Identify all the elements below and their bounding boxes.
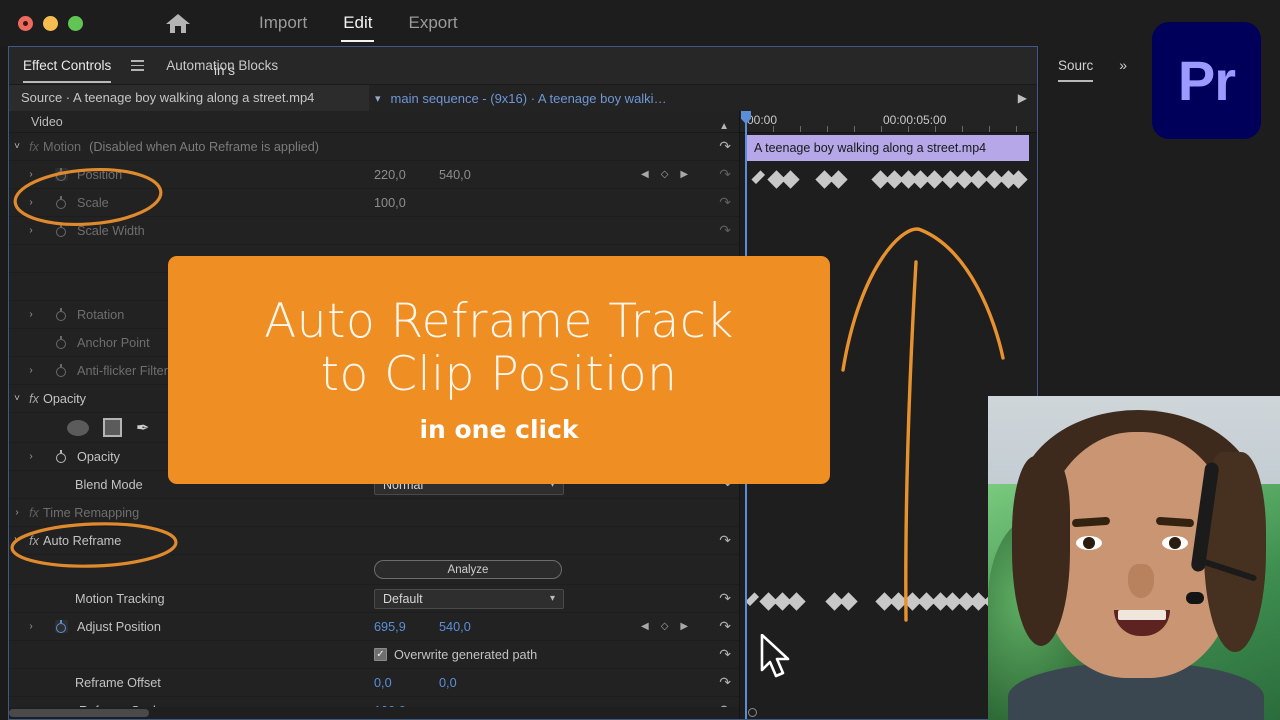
window-controls[interactable]: [18, 16, 83, 31]
source-selector-strip: Source · A teenage boy walking along a s…: [9, 85, 1037, 111]
chevron-right-icon[interactable]: ›: [23, 621, 39, 632]
property-label-motion: Motion: [43, 140, 81, 154]
chevron-right-icon[interactable]: ›: [23, 169, 39, 180]
prev-keyframe-icon[interactable]: ◀: [641, 169, 649, 180]
close-window-button[interactable]: [18, 16, 33, 31]
property-label-scale-width: Scale Width: [77, 224, 145, 238]
webcam-headset-mic: [1186, 592, 1204, 604]
stopwatch-icon[interactable]: [51, 308, 71, 321]
sequence-name[interactable]: main sequence - (9x16) · A teenage boy w…: [391, 91, 667, 106]
property-label-anchor-point: Anchor Point: [77, 336, 150, 350]
timeline-zoom-knob[interactable]: [748, 708, 757, 717]
scrollbar-thumb[interactable]: [9, 709, 149, 717]
keyframe-marker[interactable]: [787, 592, 805, 610]
property-row-adjust-position[interactable]: › Adjust Position 695,9 540,0 ◀ ◇ ▶ ↷: [9, 613, 739, 641]
motion-disabled-note: (Disabled when Auto Reframe is applied): [89, 140, 319, 154]
reset-icon[interactable]: ↷: [719, 138, 731, 155]
video-section-label: Video: [31, 115, 63, 129]
property-label-blend-mode: Blend Mode: [75, 478, 143, 492]
premiere-pro-window: Import Edit Export Effect Controls Autom…: [0, 0, 1280, 720]
stopwatch-icon[interactable]: [51, 620, 71, 633]
property-label-auto-reframe: Auto Reframe: [43, 534, 121, 548]
reset-icon[interactable]: ↷: [719, 646, 731, 663]
chevron-right-icon[interactable]: ›: [23, 197, 39, 208]
property-row-reframe-offset[interactable]: Reframe Offset 0,0 0,0 ↷: [9, 669, 739, 697]
premiere-pro-logo-text: Pr: [1178, 48, 1235, 113]
reset-icon[interactable]: ↷: [719, 674, 731, 691]
property-row-position[interactable]: › Position 220,0 540,0 ◀ ◇ ▶ ↷: [9, 161, 739, 189]
chevron-right-icon[interactable]: ›: [23, 365, 39, 376]
rectangle-mask-icon[interactable]: [103, 418, 122, 437]
timeline-ruler[interactable]: 00:00 00:00:05:00: [740, 111, 1037, 133]
property-row-overwrite-path[interactable]: ✓ Overwrite generated path ↷: [9, 641, 739, 669]
chevron-down-icon: ▾: [550, 593, 555, 604]
position-x-value[interactable]: 220,0: [374, 168, 406, 182]
ruler-time-mark: 00:00:05:00: [883, 113, 946, 127]
reset-icon[interactable]: ↷: [719, 532, 731, 549]
webcam-person-pupil-right: [1169, 537, 1181, 549]
video-section-header: Video ▲: [9, 111, 739, 133]
adjust-position-y-value[interactable]: 540,0: [439, 620, 471, 634]
add-keyframe-icon[interactable]: ◇: [661, 621, 669, 632]
tab-source[interactable]: Sourc: [1058, 58, 1093, 73]
stopwatch-icon[interactable]: [51, 364, 71, 377]
analyze-button[interactable]: Analyze: [374, 560, 562, 579]
reset-icon[interactable]: ↷: [719, 166, 731, 183]
chevron-down-icon[interactable]: ▾: [375, 92, 381, 105]
main-nav[interactable]: Import Edit Export: [241, 8, 476, 38]
property-row-time-remapping[interactable]: › fx Time Remapping: [9, 499, 739, 527]
keyframe-nav-adjust-position[interactable]: ◀ ◇ ▶: [641, 621, 688, 632]
add-keyframe-icon[interactable]: ◇: [661, 169, 669, 180]
chevron-down-icon[interactable]: ˅: [9, 535, 25, 546]
webcam-person-hair-left: [1012, 456, 1070, 646]
chevron-right-icon[interactable]: ›: [9, 507, 25, 518]
property-row-motion-tracking[interactable]: Motion Tracking Default ▾ ↷: [9, 585, 739, 613]
property-label-adjust-position: Adjust Position: [77, 620, 161, 634]
motion-tracking-value: Default: [383, 592, 423, 606]
mouse-pointer-icon: [760, 634, 794, 682]
panel-tab-bar: Effect Controls Automation Blocks: [9, 47, 1037, 85]
chevron-down-icon[interactable]: ˅: [9, 141, 25, 152]
title-bar: Import Edit Export: [0, 0, 1280, 46]
webcam-person-nose: [1128, 564, 1154, 598]
keyframe-marker[interactable]: [1009, 170, 1027, 188]
property-row-analyze[interactable]: Analyze: [9, 555, 739, 585]
source-clip-name[interactable]: Source · A teenage boy walking along a s…: [9, 85, 369, 111]
stopwatch-icon[interactable]: [51, 196, 71, 209]
keyframe-marker[interactable]: [839, 592, 857, 610]
home-icon[interactable]: [165, 11, 191, 35]
stopwatch-icon[interactable]: [51, 224, 71, 237]
reset-icon[interactable]: ↷: [719, 618, 731, 635]
reset-icon[interactable]: ↷: [719, 590, 731, 607]
property-label-position: Position: [77, 168, 122, 182]
keyframe-track-position[interactable]: [740, 171, 1037, 187]
reframe-offset-y-value[interactable]: 0,0: [439, 676, 457, 690]
stopwatch-icon[interactable]: [51, 168, 71, 181]
scale-value[interactable]: 100,0: [374, 196, 406, 210]
play-triangle-icon[interactable]: ▶: [1018, 91, 1027, 105]
chevron-right-icon[interactable]: ›: [23, 451, 39, 462]
tab-effect-controls[interactable]: Effect Controls: [23, 58, 111, 73]
banner-line-2: to Clip Position: [321, 349, 678, 402]
fx-icon: fx: [25, 140, 43, 154]
position-y-value[interactable]: 540,0: [439, 168, 471, 182]
pen-mask-icon[interactable]: ✒: [136, 418, 149, 438]
fx-icon: fx: [25, 506, 43, 520]
property-label-opacity-group: Opacity: [43, 392, 86, 406]
property-label-motion-tracking: Motion Tracking: [75, 592, 165, 606]
chevron-right-icon[interactable]: ›: [23, 309, 39, 320]
premiere-pro-logo: Pr: [1152, 22, 1261, 139]
property-row-auto-reframe[interactable]: ˅ fx Auto Reframe ↷: [9, 527, 739, 555]
next-keyframe-icon[interactable]: ▶: [680, 621, 688, 632]
property-label-rotation: Rotation: [77, 308, 124, 322]
fx-icon: fx: [25, 534, 43, 548]
adjust-position-x-value[interactable]: 695,9: [374, 620, 406, 634]
hamburger-menu-icon[interactable]: [131, 60, 144, 71]
property-label-scale: Scale: [77, 196, 109, 210]
reset-icon[interactable]: ↷: [719, 222, 731, 239]
overwrite-generated-path-label: Overwrite generated path: [394, 648, 537, 662]
reset-icon[interactable]: ↷: [719, 194, 731, 211]
nav-export[interactable]: Export: [390, 8, 475, 38]
keyframe-nav-position[interactable]: ◀ ◇ ▶: [641, 169, 688, 180]
chevron-right-icon[interactable]: ›: [23, 225, 39, 236]
property-label-opacity: Opacity: [77, 450, 120, 464]
property-label-anti-flicker: Anti-flicker Filter: [77, 364, 168, 378]
overwrite-generated-path-checkbox[interactable]: ✓: [374, 648, 387, 661]
ellipse-mask-icon[interactable]: [67, 420, 89, 436]
property-label-reframe-offset: Reframe Offset: [75, 676, 161, 690]
double-chevron-right-icon[interactable]: »: [1119, 57, 1125, 73]
property-row-scale[interactable]: › Scale 100,0 ↷: [9, 189, 739, 217]
keyframe-marker[interactable]: [781, 170, 799, 188]
maximize-window-button[interactable]: [68, 16, 83, 31]
banner-line-1: Auto Reframe Track: [264, 296, 734, 349]
prev-keyframe-icon[interactable]: ◀: [641, 621, 649, 632]
ruler-time-start: 00:00: [747, 113, 777, 127]
motion-tracking-dropdown[interactable]: Default ▾: [374, 589, 564, 609]
minimize-window-button[interactable]: [43, 16, 58, 31]
keyframe-marker[interactable]: [829, 170, 847, 188]
nav-import[interactable]: Import: [241, 8, 325, 38]
right-panel-tail-text: in s: [214, 63, 235, 78]
webcam-overlay: [988, 396, 1280, 720]
nav-edit[interactable]: Edit: [325, 8, 390, 38]
reframe-offset-x-value[interactable]: 0,0: [374, 676, 392, 690]
webcam-person-pupil-left: [1083, 537, 1095, 549]
property-label-time-remapping: Time Remapping: [43, 506, 139, 520]
stopwatch-icon[interactable]: [51, 336, 71, 349]
timeline-clip-bar[interactable]: A teenage boy walking along a street.mp4: [747, 135, 1029, 161]
webcam-person-teeth: [1118, 610, 1166, 620]
property-row-motion[interactable]: ˅ fx Motion (Disabled when Auto Reframe …: [9, 133, 739, 161]
horizontal-scrollbar[interactable]: [9, 707, 739, 719]
fx-icon: fx: [25, 392, 43, 406]
stopwatch-icon[interactable]: [51, 450, 71, 463]
chevron-down-icon[interactable]: ˅: [9, 393, 25, 404]
banner-line-3: in one click: [419, 415, 578, 444]
next-keyframe-icon[interactable]: ▶: [680, 169, 688, 180]
overlay-banner: Auto Reframe Track to Clip Position in o…: [168, 256, 830, 484]
property-row-scale-width[interactable]: › Scale Width ↷: [9, 217, 739, 245]
